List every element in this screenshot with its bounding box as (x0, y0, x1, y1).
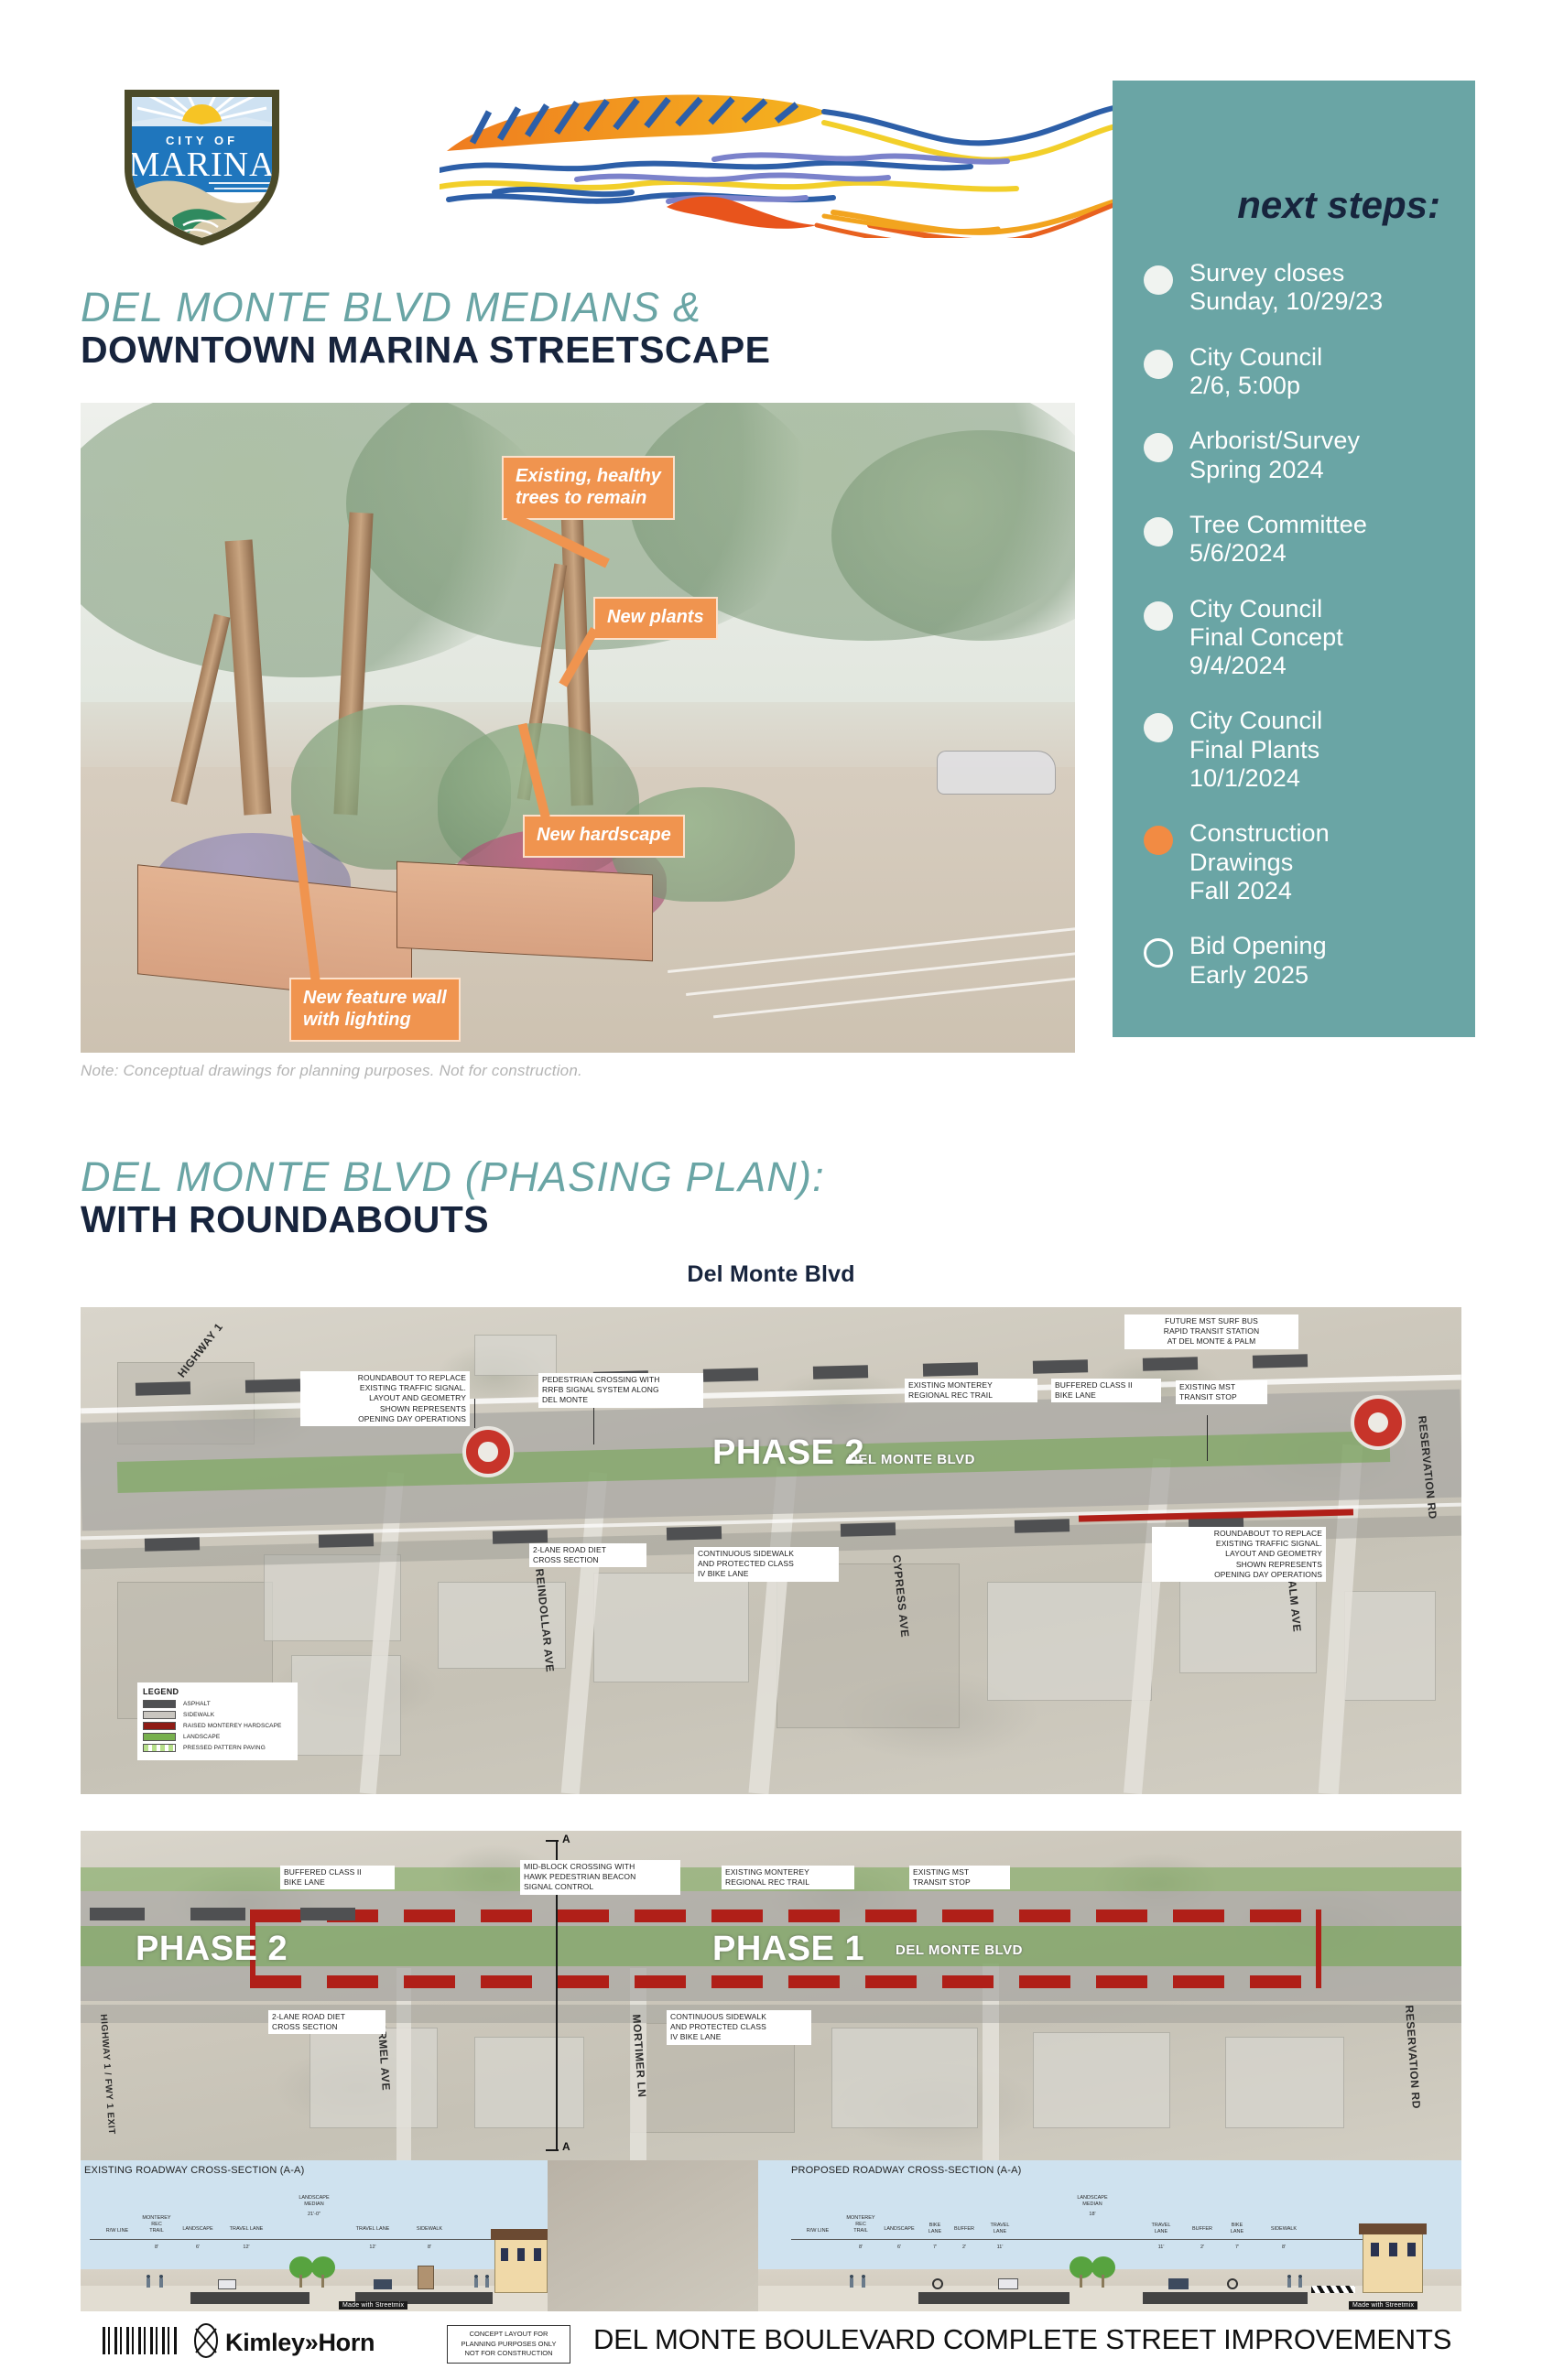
phase-2-label: PHASE 2 (136, 1930, 288, 1969)
xs-window (1371, 2243, 1379, 2256)
xs-vehicle (1168, 2278, 1189, 2289)
xs-vehicle (374, 2279, 392, 2289)
timeline-dot-future (1144, 938, 1173, 968)
xs-tree (1091, 2256, 1115, 2288)
timeline-line2: Sunday, 10/29/23 (1189, 287, 1383, 316)
raised-hardscape-dash-top (250, 1909, 1321, 1922)
annotation-ped-crossing: PEDESTRIAN CROSSING WITH RRFB SIGNAL SYS… (538, 1373, 703, 1408)
xs-label: MONTEREY REC TRAIL (842, 2215, 879, 2234)
xs-dim: 7' (1222, 2245, 1253, 2251)
asphalt-marker (923, 1362, 978, 1376)
streetmix-watermark: Made with Streetmix (1349, 2301, 1417, 2310)
annotation-leader (474, 1399, 475, 1428)
xs-label: BUFFER (1189, 2226, 1216, 2233)
city-of-marina-logo: CITY OF MARINA (117, 81, 287, 245)
xs-dim: 8' (137, 2245, 176, 2251)
timeline-line3: 10/1/2024 (1189, 764, 1322, 793)
xs-window (1407, 2243, 1416, 2256)
timeline-line1: Survey closes (1189, 259, 1383, 287)
xs-dim: 8' (842, 2245, 879, 2251)
timeline-line1: Bid Opening (1189, 932, 1327, 960)
xs-dim: 2' (950, 2245, 978, 2251)
phase-2-label: PHASE 2 (712, 1433, 864, 1473)
callout-text: New plants (593, 597, 718, 640)
proposed-cross-section: PROPOSED ROADWAY CROSS-SECTION (A-A) R/W… (758, 2160, 1461, 2311)
xs-truck (418, 2266, 434, 2289)
building (1033, 2032, 1170, 2128)
timeline-text: Construction Drawings Fall 2024 (1189, 819, 1330, 905)
timeline-line2: 5/6/2024 (1189, 539, 1367, 568)
annotation-leader (1207, 1415, 1208, 1461)
xs-vehicle (218, 2279, 236, 2289)
xs-label: LANDSCAPE MEDIAN (1060, 2195, 1124, 2208)
xs-window (534, 2248, 541, 2261)
section-cut-tick (546, 2149, 559, 2151)
kimley-horn-wordmark: Kimley»Horn (225, 2329, 375, 2357)
asphalt-marker (813, 1365, 868, 1379)
xs-label: TRAVEL LANE (220, 2226, 273, 2233)
timeline-line2: Early 2025 (1189, 961, 1327, 990)
xs-pedestrian (485, 2275, 489, 2288)
legend-label: PRESSED PATTERN PAVING (183, 1745, 266, 1751)
annotation-transit-stop: EXISTING MST TRANSIT STOP (1176, 1380, 1267, 1404)
annotation-sidewalk-bike: CONTINUOUS SIDEWALK AND PROTECTED CLASS … (694, 1547, 839, 1582)
timeline-text: City Council Final Concept 9/4/2024 (1189, 595, 1343, 681)
building (309, 2028, 438, 2128)
building (474, 1335, 557, 1376)
asphalt-marker (90, 1908, 145, 1920)
timeline-line3: 9/4/2024 (1189, 652, 1343, 680)
legend-swatch-hardscape (143, 1722, 176, 1730)
legend-label: RAISED MONTEREY HARDSCAPE (183, 1723, 281, 1729)
xs-dim: 6' (879, 2245, 919, 2251)
xs-tree-trunk (299, 2275, 302, 2288)
xs-label: R/W LINE (92, 2228, 143, 2234)
xs-label: TRAVEL LANE (982, 2223, 1018, 2235)
xs-building (1363, 2233, 1423, 2293)
timeline-text: City Council Final Plants 10/1/2024 (1189, 707, 1322, 793)
asphalt-marker (319, 1533, 374, 1547)
annotation-bike-lane: BUFFERED CLASS II BIKE LANE (280, 1866, 395, 1889)
asphalt-marker (841, 1522, 896, 1536)
section-title-line2: WITH ROUNDABOUTS (81, 1199, 825, 1241)
xs-roadway (190, 2292, 309, 2304)
legend-swatch-landscape (143, 1733, 176, 1741)
legend-label: ASPHALT (183, 1701, 211, 1707)
asphalt-marker (300, 1908, 355, 1920)
building (831, 2028, 978, 2128)
legend-row: PRESSED PATTERN PAVING (143, 1744, 292, 1752)
xs-dimension-line (90, 2239, 538, 2240)
annotation-surf-bus: FUTURE MST SURF BUS RAPID TRANSIT STATIO… (1124, 1314, 1298, 1349)
callout-text: New feature wall with lighting (289, 978, 461, 1042)
svg-text:MARINA: MARINA (128, 146, 275, 184)
timeline-text: Arborist/Survey Spring 2024 (1189, 427, 1360, 484)
callout-existing-trees: Existing, healthy trees to remain (502, 456, 675, 520)
xs-pedestrian (1298, 2275, 1302, 2288)
asphalt-marker (190, 1908, 245, 1920)
xs-dim: 8' (407, 2245, 452, 2251)
annotation-transit-stop: EXISTING MST TRANSIT STOP (909, 1866, 1010, 1889)
xs-window (517, 2248, 525, 2261)
xs-label: MONTEREY REC TRAIL (137, 2215, 176, 2234)
section-title-line1: DEL MONTE BLVD MEDIANS & (81, 286, 770, 330)
asphalt-marker (145, 1537, 200, 1551)
xs-dim: 7' (919, 2245, 950, 2251)
xs-tree-trunk (1080, 2275, 1082, 2288)
xs-label: LANDSCAPE (176, 2226, 220, 2233)
timeline-line2: 2/6, 5:00p (1189, 372, 1322, 400)
xs-vehicle (998, 2278, 1018, 2289)
streetscape-rendering: Existing, healthy trees to remain New pl… (81, 403, 1075, 1053)
timeline-line1: City Council (1189, 595, 1343, 623)
callout-new-hardscape: New hardscape (523, 740, 685, 858)
callout-leader (290, 815, 320, 984)
timeline-text: Tree Committee 5/6/2024 (1189, 511, 1367, 568)
annotation-bike-lane: BUFFERED CLASS II BIKE LANE (1051, 1379, 1161, 1402)
annotation-sidewalk-bike: CONTINUOUS SIDEWALK AND PROTECTED CLASS … (667, 2010, 811, 2045)
drawing-scale-bar (103, 2327, 178, 2354)
xs-pedestrian (474, 2275, 478, 2288)
annotation-road-diet: 2-LANE ROAD DIET CROSS SECTION (268, 2010, 385, 2034)
annotation-roundabout-east: ROUNDABOUT TO REPLACE EXISTING TRAFFIC S… (1152, 1527, 1326, 1582)
xs-dim: 12' (346, 2245, 399, 2251)
legend-swatch-asphalt (143, 1700, 176, 1708)
timeline-dot-current (1144, 826, 1173, 855)
asphalt-marker (1143, 1357, 1198, 1370)
xs-pedestrian (850, 2275, 853, 2288)
existing-cross-section-title: EXISTING ROADWAY CROSS-SECTION (A-A) (84, 2165, 304, 2176)
xs-window (1389, 2243, 1397, 2256)
timeline-line1: Arborist/Survey (1189, 427, 1360, 455)
callout-text: New hardscape (523, 815, 685, 858)
legend-swatch-sidewalk (143, 1711, 176, 1719)
phasing-map-with-roundabouts: PHASE 2 DEL MONTE BLVD HIGHWAY 1 REINDOL… (81, 1307, 1461, 1794)
footer-project-title: DEL MONTE BOULEVARD COMPLETE STREET IMPR… (593, 2323, 1451, 2356)
timeline-dot-done (1144, 713, 1173, 742)
parcel (776, 1563, 960, 1728)
xs-roadway (918, 2292, 1070, 2304)
xs-tree (289, 2256, 313, 2288)
next-steps-timeline: Survey closes Sunday, 10/29/23 City Coun… (1133, 259, 1471, 1016)
asphalt-marker (1015, 1519, 1070, 1532)
xs-pedestrian (862, 2275, 865, 2288)
legend-row: SIDEWALK (143, 1711, 292, 1719)
xs-tree-trunk (1102, 2275, 1104, 2288)
timeline-text: Bid Opening Early 2025 (1189, 932, 1327, 990)
xs-building-roof (491, 2229, 551, 2240)
legend-row: RAISED MONTEREY HARDSCAPE (143, 1722, 292, 1730)
roadway-cross-sections: EXISTING ROADWAY CROSS-SECTION (A-A) R/W… (81, 2160, 1461, 2311)
asphalt-marker (703, 1368, 758, 1381)
next-steps-heading: next steps: (1113, 183, 1440, 227)
xs-pedestrian (159, 2275, 163, 2288)
section-mark-a-bottom: A (562, 2140, 570, 2153)
del-monte-blvd-street-label: DEL MONTE BLVD (848, 1452, 975, 1467)
xs-roadway (1143, 2292, 1308, 2304)
xs-dim: 11' (982, 2245, 1018, 2251)
timeline-line2: Drawings (1189, 849, 1330, 877)
legend-title: LEGEND (143, 1687, 292, 1696)
xs-building-roof (1359, 2223, 1427, 2234)
xs-label: TRAVEL LANE (346, 2226, 399, 2233)
legend-row: ASPHALT (143, 1700, 292, 1708)
del-monte-blvd-street-label: DEL MONTE BLVD (896, 1942, 1023, 1958)
aerial-sliver (548, 2160, 758, 2311)
phasing-map-phase-1-2: PHASE 2 PHASE 1 DEL MONTE BLVD CARMEL AV… (81, 1831, 1461, 2160)
xs-bicycle (1227, 2278, 1238, 2289)
annotation-road-diet: 2-LANE ROAD DIET CROSS SECTION (529, 1543, 646, 1567)
map-heading: Del Monte Blvd (0, 1261, 1542, 1288)
section-title-streetscape: DEL MONTE BLVD MEDIANS & DOWNTOWN MARINA… (81, 286, 770, 372)
xs-label: R/W LINE (795, 2228, 841, 2234)
xs-dimension-line (791, 2239, 1414, 2240)
map-legend: LEGEND ASPHALT SIDEWALK RAISED MONTEREY … (137, 1682, 298, 1760)
roundabout-reservation[interactable] (1351, 1395, 1406, 1450)
xs-dim: 21'-0" (282, 2212, 346, 2218)
timeline-text: Survey closes Sunday, 10/29/23 (1189, 259, 1383, 317)
page-footer: Kimley»Horn CONCEPT LAYOUT FOR PLANNING … (81, 2316, 1461, 2371)
timeline-line1: City Council (1189, 343, 1322, 372)
timeline-line2: Final Concept (1189, 623, 1343, 652)
timeline-line1: Tree Committee (1189, 511, 1367, 539)
xs-dim: 18' (1060, 2212, 1124, 2218)
xs-dim: 12' (220, 2245, 273, 2251)
xs-label: SIDEWALK (1262, 2226, 1306, 2233)
xs-dim: 2' (1189, 2245, 1216, 2251)
xs-label: SIDEWALK (407, 2226, 452, 2233)
roundabout-reindollar[interactable] (462, 1426, 514, 1477)
timeline-text: City Council 2/6, 5:00p (1189, 343, 1322, 401)
timeline-item: City Council Final Concept 9/4/2024 (1133, 595, 1471, 681)
xs-tree-trunk (321, 2275, 324, 2288)
building (987, 1582, 1152, 1701)
timeline-item: Tree Committee 5/6/2024 (1133, 511, 1471, 568)
section-mark-a-top: A (562, 1833, 570, 1845)
xs-crosshatch (1311, 2286, 1355, 2293)
xs-dim: 8' (1262, 2245, 1306, 2251)
timeline-dot-done (1144, 517, 1173, 546)
kimley-horn-mark-icon (190, 2323, 222, 2358)
timeline-item: City Council Final Plants 10/1/2024 (1133, 707, 1471, 793)
rendering-note: Note: Conceptual drawings for planning p… (81, 1062, 582, 1080)
parked-car (937, 751, 1056, 795)
timeline-line2: Spring 2024 (1189, 456, 1360, 484)
timeline-item: Survey closes Sunday, 10/29/23 (1133, 259, 1471, 317)
section-title-line2: DOWNTOWN MARINA STREETSCAPE (81, 330, 770, 372)
timeline-item-current: Construction Drawings Fall 2024 (1133, 819, 1471, 905)
annotation-midblock-crossing: MID-BLOCK CROSSING WITH HAWK PEDESTRIAN … (520, 1860, 680, 1895)
asphalt-marker (1033, 1359, 1088, 1373)
xs-pedestrian (1287, 2275, 1291, 2288)
legend-label: SIDEWALK (183, 1712, 214, 1718)
phase-1-label: PHASE 1 (712, 1930, 864, 1969)
timeline-line2: Final Plants (1189, 736, 1322, 764)
timeline-dot-done (1144, 350, 1173, 379)
timeline-item: Arborist/Survey Spring 2024 (1133, 427, 1471, 484)
building (474, 2037, 584, 2128)
xs-pedestrian (147, 2275, 150, 2288)
annotation-rec-trail: EXISTING MONTEREY REGIONAL REC TRAIL (722, 1866, 854, 1889)
xs-building (494, 2238, 548, 2293)
legend-label: LANDSCAPE (183, 1734, 220, 1740)
timeline-dot-done (1144, 265, 1173, 295)
xs-dim: 11' (1143, 2245, 1179, 2251)
callout-text: Existing, healthy trees to remain (502, 456, 675, 520)
hardscape-edge (1316, 1909, 1321, 1988)
xs-dim: 6' (176, 2245, 220, 2251)
building (1344, 1591, 1436, 1701)
timeline-item-future: Bid Opening Early 2025 (1133, 932, 1471, 990)
building (1225, 2037, 1344, 2128)
xs-label: TRAVEL LANE (1143, 2223, 1179, 2235)
annotation-rec-trail: EXISTING MONTEREY REGIONAL REC TRAIL (905, 1379, 1037, 1402)
legend-swatch-pressed-paving (143, 1744, 176, 1752)
asphalt-marker (1253, 1354, 1308, 1368)
xs-label: LANDSCAPE MEDIAN (282, 2195, 346, 2208)
timeline-item: City Council 2/6, 5:00p (1133, 343, 1471, 401)
timeline-dot-done (1144, 433, 1173, 462)
section-cut-tick (546, 1840, 559, 1842)
timeline-line3: Fall 2024 (1189, 877, 1330, 905)
timeline-dot-done (1144, 601, 1173, 631)
timeline-line1: City Council (1189, 707, 1322, 735)
xs-tree (311, 2256, 335, 2288)
xs-label: BIKE LANE (1222, 2223, 1253, 2235)
xs-window (501, 2248, 508, 2261)
annotation-leader (593, 1408, 594, 1444)
asphalt-marker (493, 1530, 548, 1543)
building (593, 1573, 749, 1682)
asphalt-marker (136, 1381, 190, 1395)
asphalt-marker (667, 1526, 722, 1540)
xs-label: BIKE LANE (919, 2223, 950, 2235)
ribbon-artwork-icon (440, 55, 1117, 238)
section-title-line1: DEL MONTE BLVD (PHASING PLAN): (81, 1155, 825, 1199)
section-title-phasing: DEL MONTE BLVD (PHASING PLAN): WITH ROUN… (81, 1155, 825, 1241)
streetmix-watermark: Made with Streetmix (339, 2301, 407, 2310)
annotation-roundabout-west: ROUNDABOUT TO REPLACE EXISTING TRAFFIC S… (300, 1371, 470, 1426)
xs-label: LANDSCAPE (879, 2226, 919, 2233)
asphalt-marker (245, 1379, 300, 1392)
callout-new-plants: New plants (593, 597, 718, 640)
raised-hardscape-dash-bottom (250, 1975, 1321, 1988)
existing-cross-section: EXISTING ROADWAY CROSS-SECTION (A-A) R/W… (81, 2160, 548, 2311)
xs-label: BUFFER (950, 2226, 978, 2233)
callout-feature-wall: New feature wall with lighting (289, 824, 461, 1042)
concept-disclaimer: CONCEPT LAYOUT FOR PLANNING PURPOSES ONL… (447, 2325, 570, 2364)
legend-row: LANDSCAPE (143, 1733, 292, 1741)
timeline-line1: Construction (1189, 819, 1330, 848)
proposed-cross-section-title: PROPOSED ROADWAY CROSS-SECTION (A-A) (791, 2165, 1021, 2176)
next-steps-panel: next steps: Survey closes Sunday, 10/29/… (1113, 81, 1475, 1037)
xs-tree (1070, 2256, 1093, 2288)
xs-bicycle (932, 2278, 943, 2289)
